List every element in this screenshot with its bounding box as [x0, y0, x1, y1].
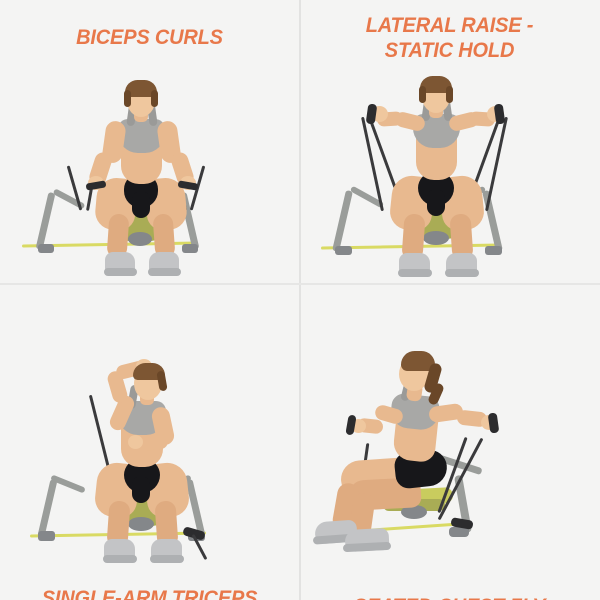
panel-title-lateral-raise: LATERAL RAISE - STATIC HOLD: [310, 13, 590, 63]
photo-chest-fly: [299, 283, 600, 600]
infographic-root: BICEPS CURLS: [0, 0, 600, 600]
panel-biceps-curls[interactable]: BICEPS CURLS: [0, 0, 299, 283]
panel-title-chest-fly: SEATED CHEST FLY: [310, 594, 590, 600]
photo-triceps-extension: [0, 283, 299, 600]
panel-chest-fly[interactable]: SEATED CHEST FLY: [299, 283, 600, 600]
divider-vertical: [299, 0, 301, 600]
panel-lateral-raise[interactable]: LATERAL RAISE - STATIC HOLD: [299, 0, 600, 283]
divider-horizontal: [0, 283, 600, 285]
panel-title-biceps-curls: BICEPS CURLS: [10, 25, 288, 50]
panel-title-triceps-extension: SINGLE-ARM TRICEPS BRACHII EXTENSION: [10, 586, 288, 600]
panel-triceps-extension[interactable]: SINGLE-ARM TRICEPS BRACHII EXTENSION: [0, 283, 299, 600]
